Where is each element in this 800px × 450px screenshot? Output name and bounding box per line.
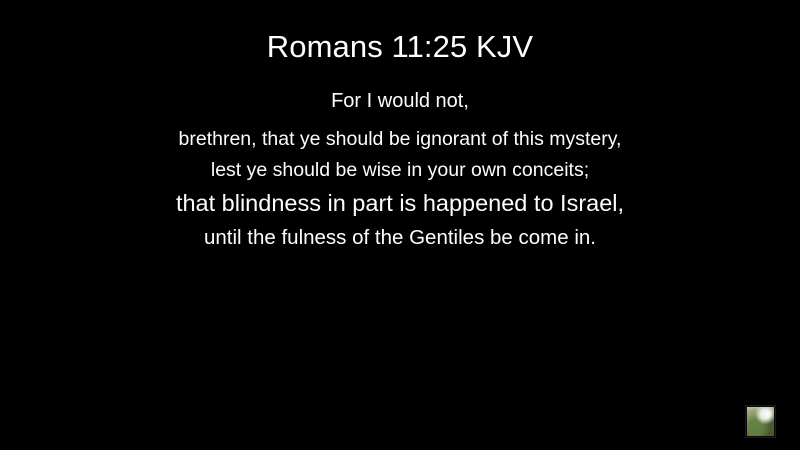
verse-line: lest ye should be wise in your own conce… bbox=[0, 155, 800, 186]
verse-line: until the fulness of the Gentiles be com… bbox=[0, 221, 800, 254]
scripture-slide: Romans 11:25 KJV For I would not, brethr… bbox=[0, 0, 800, 450]
page-title: Romans 11:25 KJV bbox=[0, 28, 800, 66]
verse-line: that blindness in part is happened to Is… bbox=[0, 186, 800, 221]
verse-line: brethren, that ye should be ignorant of … bbox=[0, 124, 800, 155]
channel-thumbnail-icon bbox=[745, 405, 776, 438]
verse-line: For I would not, bbox=[0, 86, 800, 116]
verse-text-block: For I would not, brethren, that ye shoul… bbox=[0, 86, 800, 254]
channel-thumbnail-highlight bbox=[762, 408, 772, 420]
